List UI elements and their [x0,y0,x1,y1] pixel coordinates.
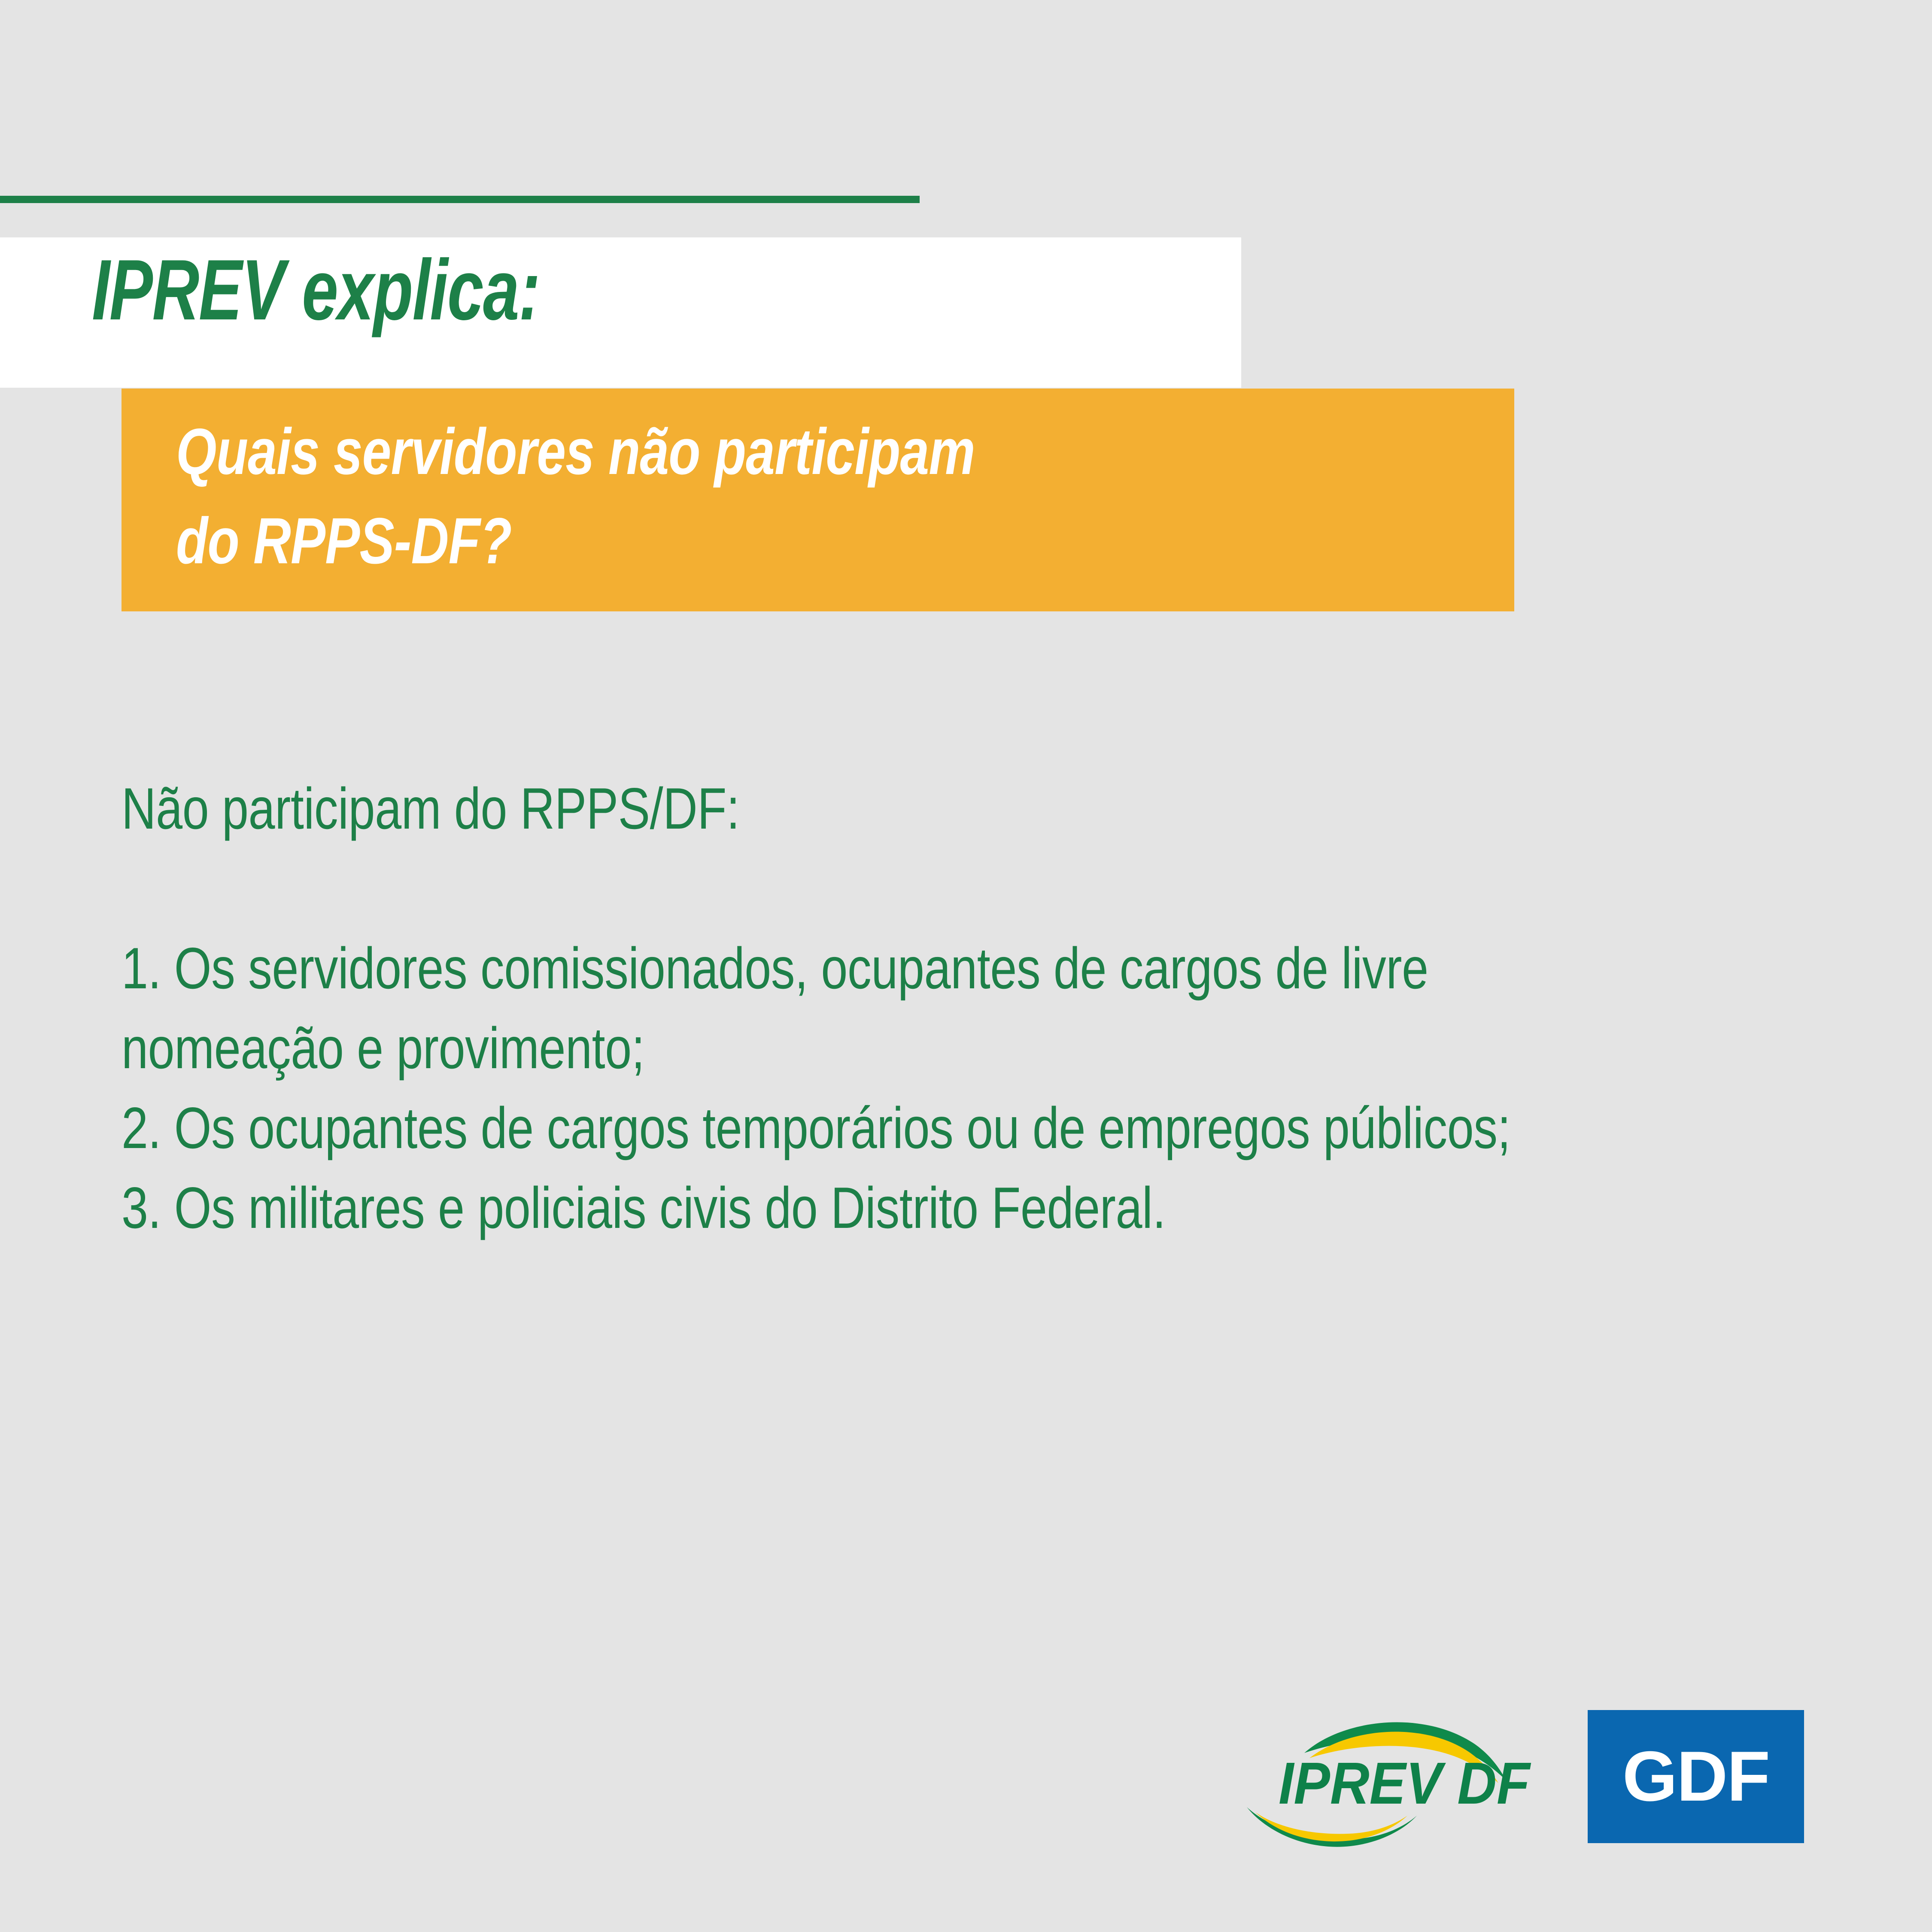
footer-logo-group: IPREV DF GDF [1236,1702,1812,1857]
kicker-title: IPREV explica: [92,247,875,333]
green-rule-divider [0,196,920,203]
iprev-df-wordmark: IPREV DF [1279,1754,1530,1813]
gdf-logo: GDF [1588,1710,1804,1843]
body-copy: Não participam do RPPS/DF: 1. Os servido… [122,769,1495,1248]
list-item-1-part-1: 1. Os servidores comissionados, ocupante… [122,928,1495,1008]
question-title: Quais servidores não participam do RPPS-… [176,407,1309,586]
list-item-3: 3. Os militares e policiais civis do Dis… [122,1168,1495,1248]
body-intro: Não participam do RPPS/DF: [122,769,1495,848]
body-spacer [122,848,1495,928]
list-item-2: 2. Os ocupantes de cargos temporários ou… [122,1088,1495,1168]
gdf-wordmark: GDF [1588,1741,1804,1812]
iprev-df-logo: IPREV DF [1236,1702,1567,1850]
list-item-1-part-2: nomeação e provimento; [122,1008,1495,1088]
question-line-1: Quais servidores não participam [176,407,1309,496]
question-line-2: do RPPS-DF? [176,496,1309,586]
poster-canvas: IPREV explica: Quais servidores não part… [0,0,1932,1932]
